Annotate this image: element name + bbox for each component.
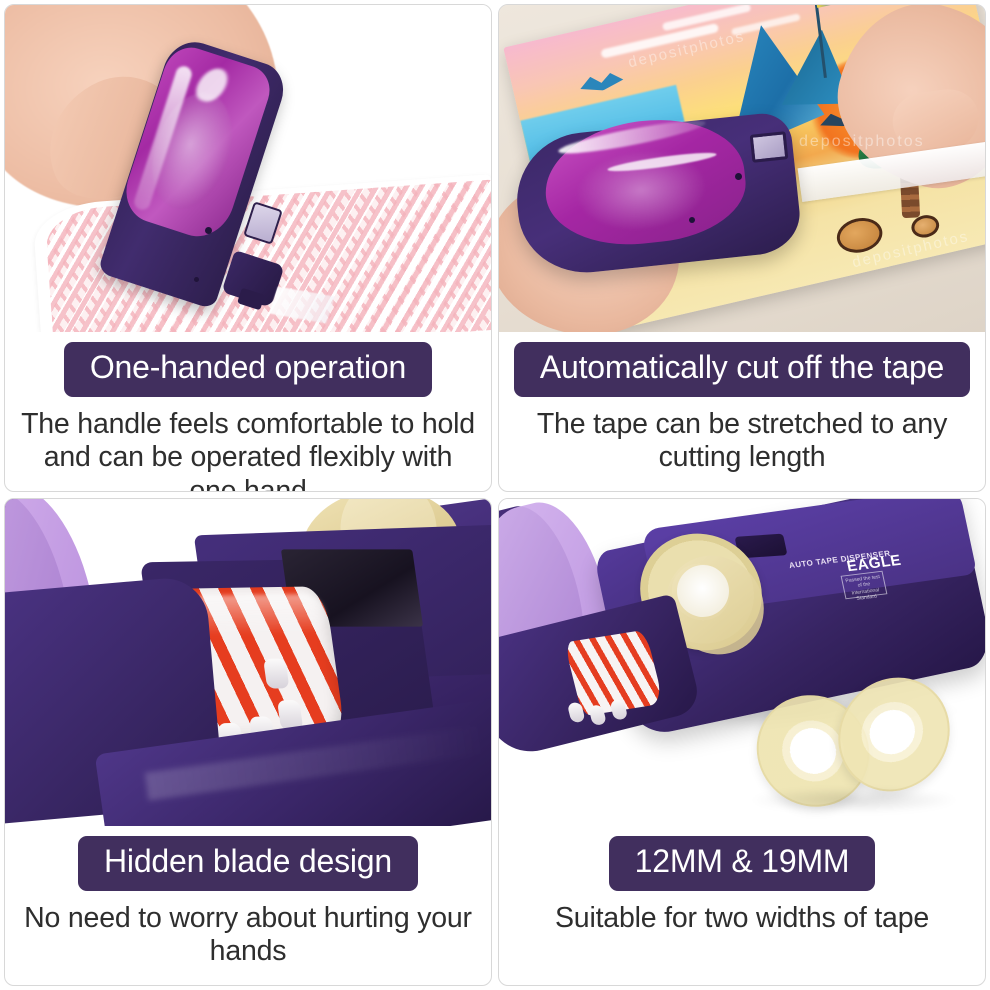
photo-watermark: depositphotos — [799, 133, 925, 151]
feature-badge: 12MM & 19MM — [609, 836, 876, 891]
product-photo-automatic-cut: depositphotos depositphotos depositphoto… — [499, 5, 985, 332]
caption-area: One-handed operation The handle feels co… — [5, 332, 491, 492]
product-photo-one-handed-operation — [5, 5, 491, 332]
feature-description: Suitable for two widths of tape — [549, 902, 935, 935]
roller-tooth — [609, 699, 628, 721]
feature-badge: One-handed operation — [64, 342, 432, 397]
feature-badge: Automatically cut off the tape — [514, 342, 970, 397]
tape-rolls-shadow — [749, 787, 959, 813]
feature-panel-one-handed-operation: One-handed operation The handle feels co… — [4, 4, 492, 492]
roller-tooth — [588, 704, 607, 726]
feature-panel-tape-widths: AUTO TAPE DISPENSER EAGLE Passed the tes… — [498, 498, 986, 986]
product-feature-infographic: One-handed operation The handle feels co… — [0, 0, 990, 990]
feature-description: No need to worry about hurting your hand… — [13, 902, 483, 969]
dispenser-tape-slot — [750, 131, 789, 163]
roller-tooth — [567, 702, 586, 724]
certification-box: Passed the test of the International Sta… — [841, 571, 888, 600]
feature-description: The tape can be stretched to any cutting… — [507, 408, 977, 475]
screw-dot-secondary — [689, 217, 695, 223]
caption-area: 12MM & 19MM Suitable for two widths of t… — [499, 826, 985, 985]
painting-flag — [815, 5, 837, 8]
product-photo-tape-widths: AUTO TAPE DISPENSER EAGLE Passed the tes… — [499, 499, 985, 826]
caption-area: Automatically cut off the tape The tape … — [499, 332, 985, 491]
feature-description: The handle feels comfortable to hold and… — [13, 408, 483, 492]
feature-panel-hidden-blade: Hidden blade design No need to worry abo… — [4, 498, 492, 986]
screw-dot — [205, 227, 212, 234]
caption-area: Hidden blade design No need to worry abo… — [5, 826, 491, 985]
screw-dot-secondary — [194, 277, 199, 282]
screw-dot — [735, 173, 742, 180]
product-photo-hidden-blade — [5, 499, 491, 826]
painting-bird — [578, 70, 624, 95]
feature-panel-automatic-cut: depositphotos depositphotos depositphoto… — [498, 4, 986, 492]
roller-tooth — [263, 659, 289, 689]
feature-badge: Hidden blade design — [78, 836, 418, 891]
